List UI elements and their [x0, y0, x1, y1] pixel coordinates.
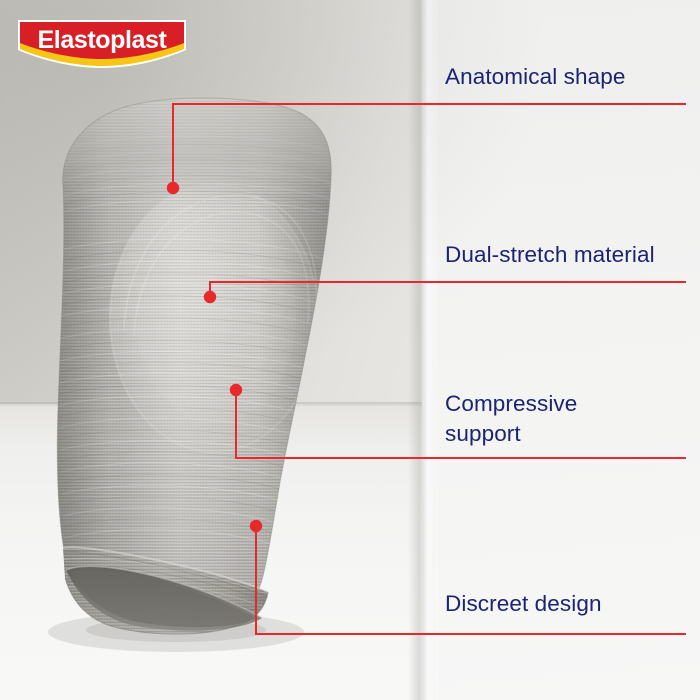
- product-feature-image: Anatomical shape Dual-stretch material C…: [0, 0, 700, 700]
- callout-label-compressive-support: Compressive support: [445, 389, 577, 449]
- callout-label-discreet-design: Discreet design: [445, 589, 602, 619]
- callout-label-anatomical-shape: Anatomical shape: [445, 62, 625, 92]
- elastoplast-logo: Elastoplast: [17, 18, 187, 73]
- logo-wordmark: Elastoplast: [38, 26, 168, 54]
- callout-label-dual-stretch-material: Dual-stretch material: [445, 240, 655, 270]
